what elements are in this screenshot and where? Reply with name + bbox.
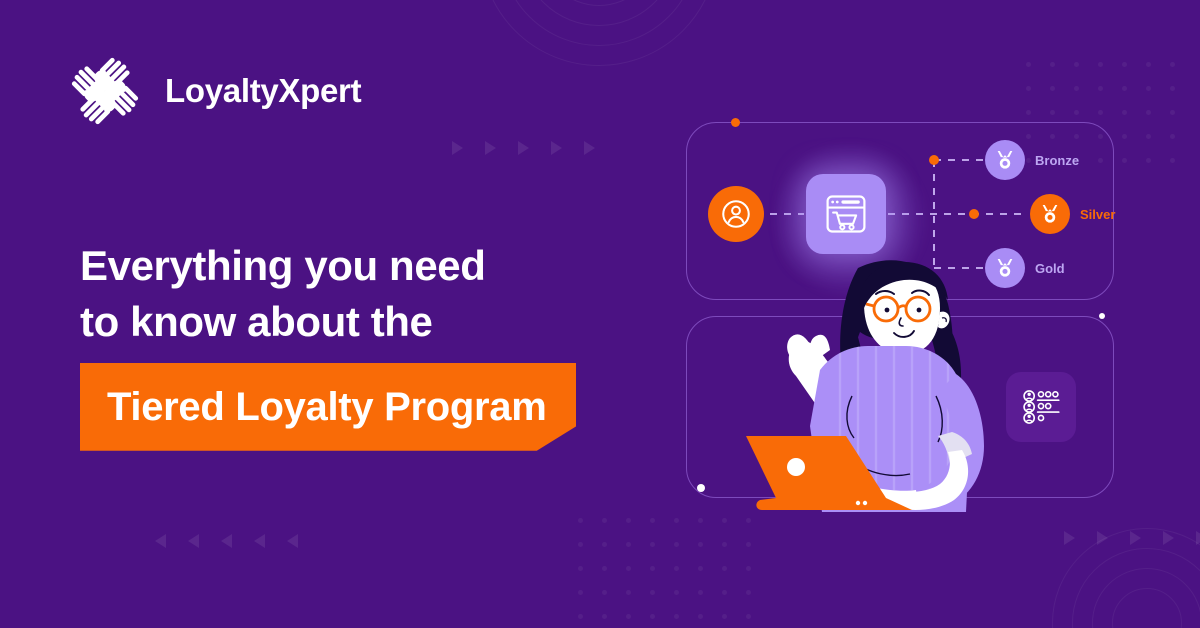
tier-label-bronze: Bronze (1035, 153, 1079, 168)
banner-canvas: LoyaltyXpert Everything you need to know… (0, 0, 1200, 628)
tier-item-bronze[interactable]: Bronze (985, 140, 1079, 180)
tier-item-silver[interactable]: Silver (1030, 194, 1115, 234)
tier-label-silver: Silver (1080, 207, 1115, 222)
medal-icon (985, 140, 1025, 180)
connector-node-silver (969, 209, 979, 219)
medal-icon (1030, 194, 1070, 234)
woman-with-laptop-illustration (700, 250, 1030, 530)
user-avatar-icon[interactable] (708, 186, 764, 242)
tier-label-gold: Gold (1035, 261, 1065, 276)
connector-node-bronze (929, 155, 939, 165)
browser-shopping-cart-icon[interactable] (806, 174, 886, 254)
